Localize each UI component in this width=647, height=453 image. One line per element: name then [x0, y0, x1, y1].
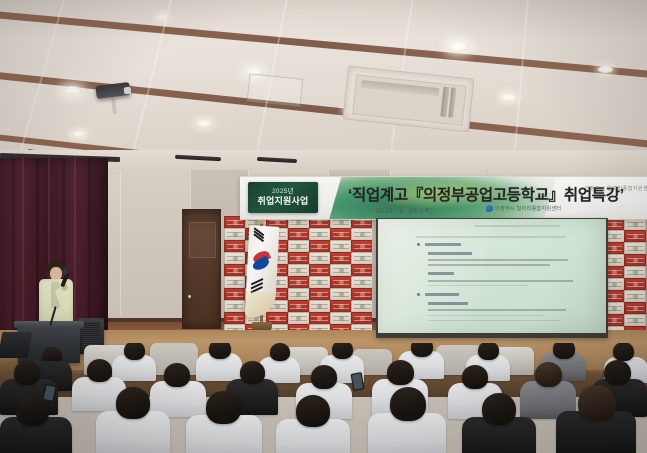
audience-head: [478, 343, 499, 360]
audience-head: [209, 343, 231, 359]
audience-head: [124, 343, 145, 360]
ceiling-wood-trim: [0, 66, 647, 154]
audience-head: [87, 359, 112, 382]
recessed-downlight: [447, 42, 469, 52]
banner-date: 2025. 9. 25.(목): [376, 206, 434, 215]
audience-head: [613, 343, 634, 361]
recessed-downlight: [156, 14, 168, 20]
audience-head: [270, 343, 290, 361]
audience: [0, 343, 647, 453]
audience-head: [296, 395, 330, 427]
recessed-downlight: [196, 120, 212, 127]
audience-head: [387, 360, 414, 385]
ceiling-access-panel: [247, 73, 304, 106]
audience-head: [535, 362, 562, 387]
recessed-downlight: [72, 131, 85, 137]
audience-head: [462, 365, 488, 389]
banner-right-note: 의정부시 일자리종합지원센터: [585, 185, 647, 192]
audience-head: [482, 393, 516, 425]
banner-badge-year: 2025년: [272, 189, 294, 196]
plaque-backdrop-wall-right: [603, 206, 647, 338]
banner-badge-program: 취업지원사업: [258, 196, 309, 206]
audience-head: [164, 363, 190, 387]
audience-head: [240, 361, 265, 384]
audience-head: [16, 395, 49, 426]
audience-head: [332, 343, 353, 359]
projection-screen: [378, 219, 606, 333]
banner-program-badge: 2025년 취업지원사업: [248, 182, 318, 213]
audience-head: [604, 360, 631, 385]
auditorium-photo: 2025년 취업지원사업 ‘직업계고『의정부공업고등학교』취업특강’ 2025.…: [0, 0, 647, 453]
audience-head: [578, 385, 616, 421]
audience-head: [390, 387, 426, 421]
projector-mount: [111, 98, 117, 114]
auditorium-door[interactable]: [182, 209, 221, 329]
audience-head: [553, 343, 575, 359]
banner-organizer: 의정부시 일자리종합지원센터: [486, 205, 561, 212]
slide-bullet: [417, 293, 420, 296]
banner-organizer-label: 의정부시 일자리종합지원센터: [495, 205, 561, 212]
projector-lens: [124, 87, 132, 95]
audience-head: [311, 365, 337, 389]
audience-head: [206, 391, 241, 424]
audience-head: [411, 343, 433, 357]
ceiling-air-conditioner: [343, 66, 475, 133]
audience-head: [116, 387, 150, 419]
banner-title: ‘직업계고『의정부공업고등학교』취업특강’: [348, 183, 624, 205]
slide-bullet: [417, 243, 420, 246]
recessed-downlight: [62, 86, 82, 95]
event-banner: 2025년 취업지원사업 ‘직업계고『의정부공업고등학교』취업특강’ 2025.…: [240, 176, 647, 220]
audience-head: [14, 361, 40, 385]
water-drop-logo-icon: [486, 205, 493, 212]
recessed-downlight: [500, 94, 517, 101]
recessed-downlight: [598, 66, 613, 73]
